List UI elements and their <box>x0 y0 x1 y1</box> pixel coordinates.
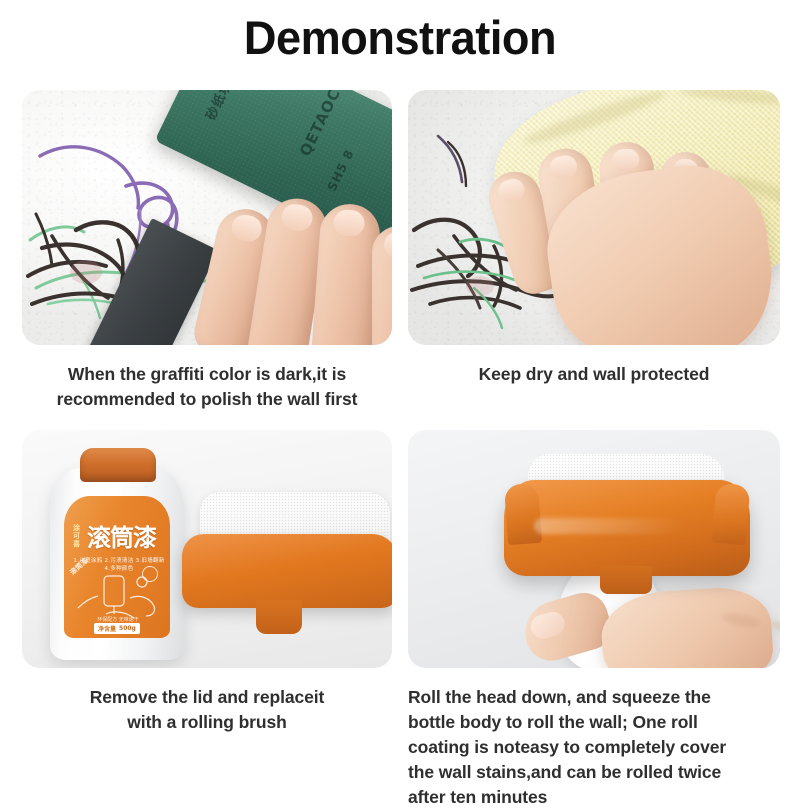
weight-badge-label: 净含量 <box>98 624 116 633</box>
demo-step-3: 涂可喜 滚筒漆 1.儿童涂鸦 2.污渍清洁 3.旧墙翻新 4.多种颜色 <box>22 430 392 735</box>
demo-step-4: Roll the head down, and squeeze the bott… <box>408 430 780 810</box>
caption-line: coating is noteasy to completely cover <box>408 735 780 760</box>
caption-line: with a rolling brush <box>22 710 392 735</box>
photo-sanding-block-on-graffiti-wall: QETAOCM 砂纸块 SH5 8 <box>22 90 392 345</box>
roller-frame <box>504 480 750 576</box>
caption-line: recommended to polish the wall first <box>22 387 392 412</box>
roller-frame <box>182 534 392 608</box>
roller-arm-left <box>504 483 542 545</box>
roller-brush-head <box>182 492 392 642</box>
demo-step-2: Keep dry and wall protected <box>408 90 780 387</box>
caption-line: Remove the lid and replaceit <box>22 685 392 710</box>
photo-paint-bottle-and-roller-head: 涂可喜 滚筒漆 1.儿童涂鸦 2.污渍清洁 3.旧墙翻新 4.多种颜色 <box>22 430 392 668</box>
caption-line: after ten minutes <box>408 785 780 810</box>
label-footer-text: 环保配方 无味速干 <box>74 616 162 623</box>
label-seal-icon <box>142 566 158 582</box>
roller-stem <box>256 600 302 634</box>
roller-arm-right <box>711 483 750 546</box>
demo-step-1: QETAOCM 砂纸块 SH5 8 When the graffiti colo… <box>22 90 392 412</box>
sponge-print-line-2: 砂纸块 <box>200 90 235 123</box>
label-side-text: 涂可喜 <box>73 524 85 548</box>
roller-stem <box>600 566 652 594</box>
hand-holding-sponge <box>192 198 392 345</box>
caption-line: bottle body to roll the wall; One roll <box>408 710 780 735</box>
photo-hand-wiping-wall-with-yellow-cloth <box>408 90 780 345</box>
caption-line: Keep dry and wall protected <box>408 362 780 387</box>
finger <box>372 226 392 345</box>
roller-highlight <box>534 518 684 534</box>
caption-line: the wall stains,and can be rolled twice <box>408 760 780 785</box>
label-product-name: 滚筒漆 <box>87 526 156 550</box>
step-2-caption: Keep dry and wall protected <box>408 362 780 387</box>
label-weight-badge: 净含量 500g <box>94 623 140 634</box>
roller-brush-head <box>504 454 750 614</box>
step-3-caption: Remove the lid and replaceit with a roll… <box>22 685 392 735</box>
caption-line: Roll the head down, and squeeze the <box>408 685 780 710</box>
photo-roller-brush-head-in-hand <box>408 430 780 668</box>
bottle-cap <box>80 448 156 482</box>
hand-wiping <box>490 126 780 345</box>
paint-bottle: 涂可喜 滚筒漆 1.儿童涂鸦 2.污渍清洁 3.旧墙翻新 4.多种颜色 <box>50 448 184 660</box>
bottle-label: 涂可喜 滚筒漆 1.儿童涂鸦 2.污渍清洁 3.旧墙翻新 4.多种颜色 <box>64 496 170 638</box>
caption-line: When the graffiti color is dark,it is <box>22 362 392 387</box>
sponge-print-line-3: SH5 8 <box>325 147 357 193</box>
step-1-caption: When the graffiti color is dark,it is re… <box>22 362 392 412</box>
weight-badge-value: 500g <box>119 625 136 632</box>
demonstration-grid: QETAOCM 砂纸块 SH5 8 When the graffiti colo… <box>0 90 800 800</box>
page-title: Demonstration <box>16 8 784 68</box>
step-4-caption: Roll the head down, and squeeze the bott… <box>408 685 780 810</box>
